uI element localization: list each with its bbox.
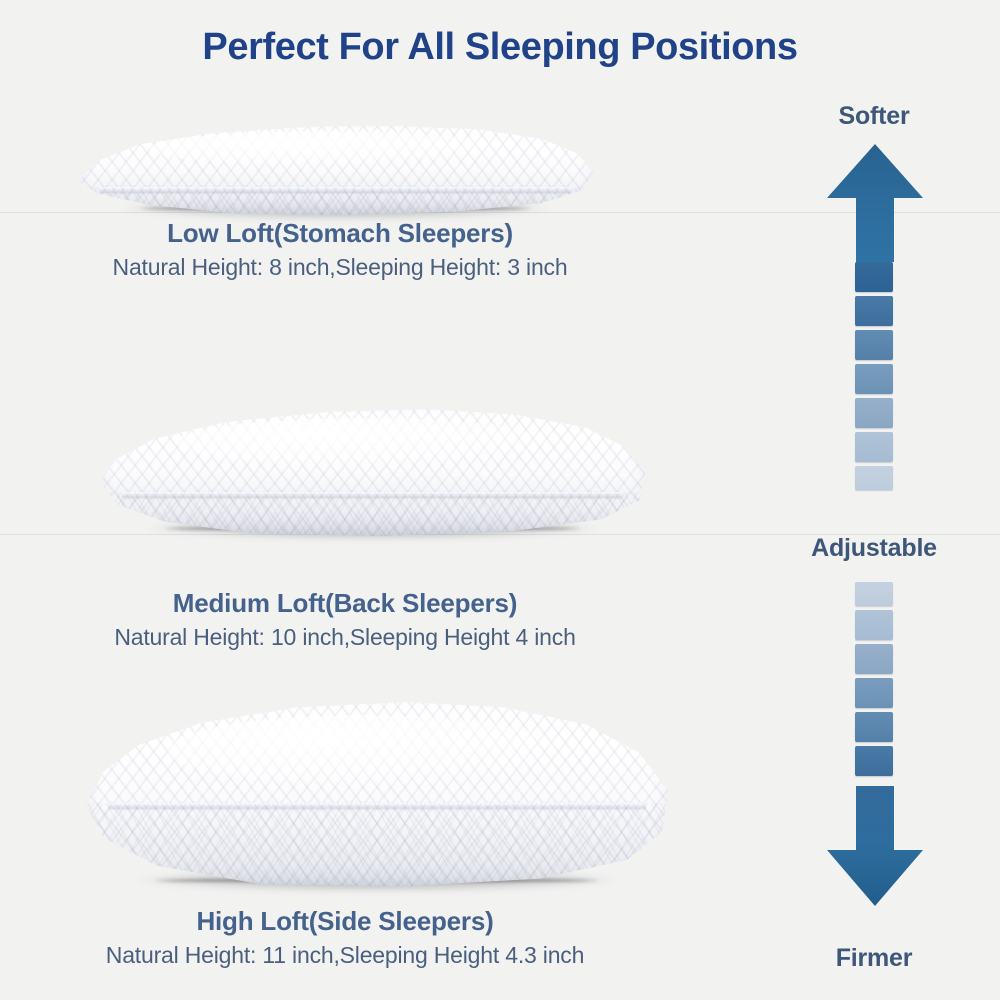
scale-block	[855, 466, 893, 490]
scale-block	[855, 712, 893, 742]
scale-block	[855, 678, 893, 708]
scale-block	[855, 398, 893, 428]
pillow-body	[100, 408, 645, 536]
firmness-blocks-lower	[855, 582, 893, 776]
pillow-body	[78, 124, 593, 216]
infographic-canvas: Perfect For All Sleeping Positions Low L…	[0, 0, 1000, 1000]
pillow-subtext-medium-loft: Natural Height: 10 inch,Sleeping Height …	[0, 624, 690, 651]
scale-block	[855, 432, 893, 462]
pillow-heading-high-loft: High Loft(Side Sleepers)	[0, 906, 690, 937]
scale-block	[855, 610, 893, 640]
pillow-subtext-low-loft: Natural Height: 8 inch,Sleeping Height: …	[0, 254, 680, 281]
scale-block	[855, 746, 893, 776]
scale-block	[855, 644, 893, 674]
scale-block	[855, 296, 893, 326]
arrow-down-icon	[825, 786, 925, 908]
scale-label-softer: Softer	[754, 102, 994, 131]
scale-block	[855, 364, 893, 394]
firmness-blocks-upper	[855, 262, 893, 490]
arrow-up-icon	[825, 142, 925, 262]
pillow-heading-medium-loft: Medium Loft(Back Sleepers)	[0, 588, 690, 619]
page-title: Perfect For All Sleeping Positions	[0, 26, 1000, 69]
pillow-image-medium-loft	[100, 408, 645, 536]
scale-label-adjustable: Adjustable	[754, 534, 994, 563]
pillow-image-high-loft	[86, 700, 668, 888]
pillow-image-low-loft	[78, 124, 593, 216]
pillow-body	[86, 700, 668, 888]
scale-block	[855, 262, 893, 292]
scale-label-firmer: Firmer	[754, 944, 994, 973]
scale-block	[855, 330, 893, 360]
scale-block	[855, 582, 893, 606]
pillow-heading-low-loft: Low Loft(Stomach Sleepers)	[0, 218, 680, 249]
pillow-subtext-high-loft: Natural Height: 11 inch,Sleeping Height …	[0, 942, 690, 969]
